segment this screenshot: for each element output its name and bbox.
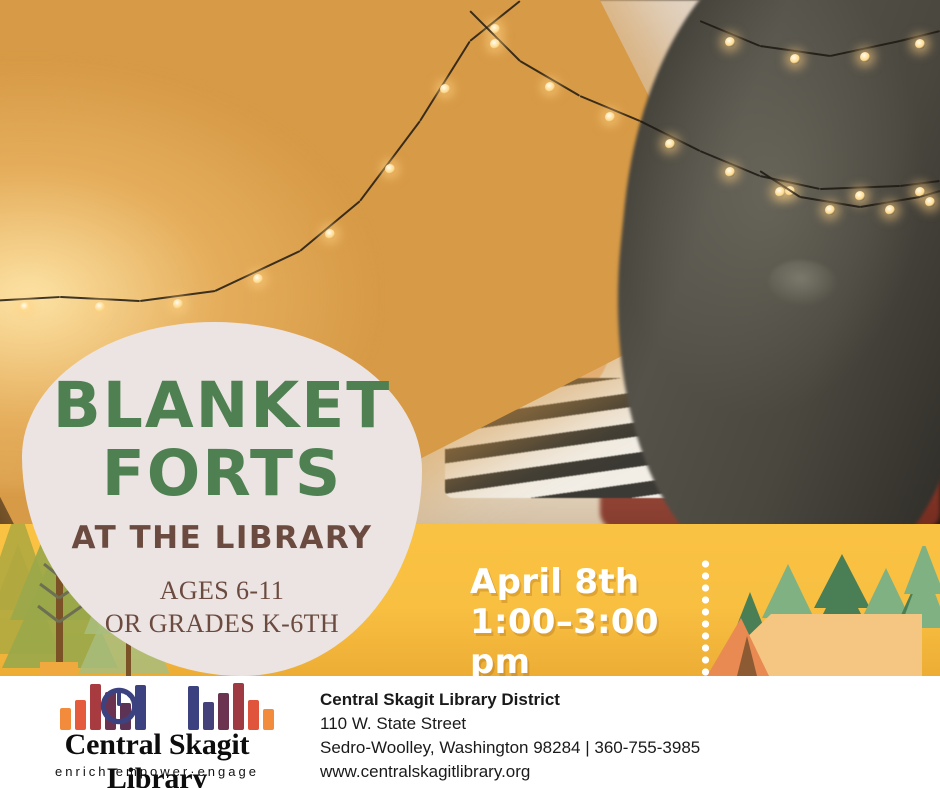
light-bulb — [20, 302, 30, 312]
organization-name: Central Skagit Library District — [320, 688, 920, 712]
event-time: 1:00–3:00 pm — [470, 602, 710, 682]
equalizer-bars-icon — [60, 682, 260, 730]
light-wire — [419, 40, 471, 121]
light-bulb — [725, 167, 735, 177]
event-datetime: April 8th 1:00–3:00 pm — [470, 562, 710, 682]
light-bulb — [545, 82, 555, 92]
logo-wordmark: Central Skagit Library — [12, 728, 302, 788]
headline-line2: FORTS — [22, 442, 422, 505]
logo-bar-8 — [203, 702, 214, 730]
light-bulb — [775, 187, 785, 197]
headline-line1: BLANKET — [22, 374, 422, 437]
light-bulb — [173, 299, 183, 309]
light-bulb — [665, 139, 675, 149]
light-bulb — [925, 197, 935, 207]
logo-tagline: enrich·empower·engage — [12, 764, 302, 779]
camping-tent — [707, 614, 922, 676]
logo-bar-1 — [60, 708, 71, 730]
eligibility-line1: AGES 6-11 — [22, 574, 422, 607]
headline-text-group: BLANKET FORTS AT THE LIBRARY AGES 6-11 O… — [22, 322, 422, 676]
light-wire — [215, 250, 301, 292]
website-url[interactable]: www.centralskagitlibrary.org — [320, 760, 920, 784]
light-bulb — [325, 229, 335, 239]
light-wire — [900, 180, 940, 187]
eligibility-line2: OR GRADES K-6TH — [22, 607, 422, 640]
logo-bar-10 — [233, 683, 244, 730]
light-bulb — [855, 191, 865, 201]
street-address: 110 W. State Street — [320, 712, 920, 736]
light-bulb — [95, 302, 105, 312]
light-bulb — [790, 54, 800, 64]
light-wire — [359, 120, 421, 201]
logo-bar-11 — [248, 700, 259, 730]
light-wire — [0, 296, 60, 302]
power-icon — [96, 683, 142, 729]
light-bulb — [725, 37, 735, 47]
library-logo: Central Skagit Library enrich·empower·en… — [12, 682, 302, 782]
light-bulb — [860, 52, 870, 62]
light-wire — [299, 200, 360, 252]
logo-bar-2 — [75, 700, 86, 730]
light-bulb — [440, 84, 450, 94]
logo-bar-12 — [263, 709, 274, 730]
contact-block: Central Skagit Library District 110 W. S… — [320, 688, 920, 785]
light-bulb — [253, 274, 263, 284]
poster-canvas: BLANKET FORTS AT THE LIBRARY AGES 6-11 O… — [0, 0, 940, 788]
light-bulb — [825, 205, 835, 215]
light-bulb — [385, 164, 395, 174]
eligibility-text: AGES 6-11 OR GRADES K-6TH — [22, 574, 422, 641]
light-bulb — [605, 112, 615, 122]
logo-bar-9 — [218, 693, 229, 730]
footer: Central Skagit Library enrich·empower·en… — [0, 676, 940, 788]
event-date: April 8th — [470, 562, 710, 602]
subheadline: AT THE LIBRARY — [22, 520, 422, 556]
light-bulb — [915, 39, 925, 49]
logo-bar-7 — [188, 686, 199, 730]
light-bulb — [490, 39, 500, 49]
city-state-phone: Sedro-Woolley, Washington 98284 | 360-75… — [320, 736, 920, 760]
light-bulb — [885, 205, 895, 215]
light-wire — [820, 185, 900, 190]
